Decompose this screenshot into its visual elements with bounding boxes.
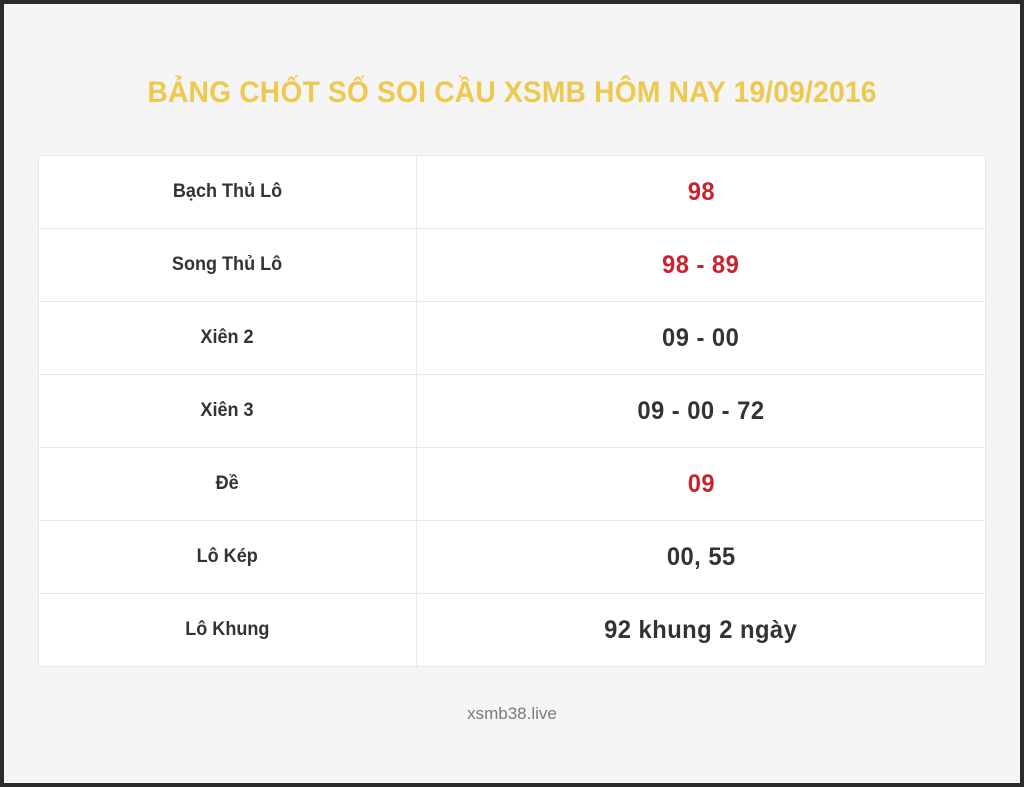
row-value: 09 - 00 - 72: [637, 397, 764, 426]
row-value: 09: [687, 470, 714, 499]
table-cell-label: Xiên 2: [39, 302, 417, 375]
table-row: Xiên 2 09 - 00: [39, 302, 986, 375]
row-label: Đề: [216, 473, 239, 495]
table-row: Đề 09: [39, 448, 986, 521]
row-value: 98: [687, 178, 714, 207]
row-value: 92 khung 2 ngày: [604, 616, 797, 645]
row-value: 98 - 89: [662, 251, 739, 280]
table-cell-value: 98: [416, 156, 985, 229]
table-row: Lô Khung 92 khung 2 ngày: [39, 594, 986, 667]
table-cell-value: 00, 55: [416, 521, 985, 594]
soicau-table-wrapper: Bạch Thủ Lô 98 Song Thủ Lô 98 - 89: [38, 155, 986, 667]
table-cell-label: Đề: [39, 448, 417, 521]
row-label: Bạch Thủ Lô: [173, 181, 282, 203]
soicau-table-body: Bạch Thủ Lô 98 Song Thủ Lô 98 - 89: [39, 156, 986, 667]
table-cell-value: 92 khung 2 ngày: [416, 594, 985, 667]
row-label: Song Thủ Lô: [172, 254, 282, 276]
table-row: Song Thủ Lô 98 - 89: [39, 229, 986, 302]
page-title: BẢNG CHỐT SỐ SOI CẦU XSMB HÔM NAY 19/09/…: [34, 76, 989, 110]
table-cell-label: Bạch Thủ Lô: [39, 156, 417, 229]
table-row: Xiên 3 09 - 00 - 72: [39, 375, 986, 448]
soicau-table: Bạch Thủ Lô 98 Song Thủ Lô 98 - 89: [38, 155, 986, 667]
table-row: Bạch Thủ Lô 98: [39, 156, 986, 229]
table-row: Lô Kép 00, 55: [39, 521, 986, 594]
table-cell-value: 09 - 00 - 72: [416, 375, 985, 448]
row-label: Lô Kép: [197, 546, 258, 568]
table-cell-label: Lô Khung: [39, 594, 417, 667]
row-value: 09 - 00: [662, 324, 739, 353]
table-cell-label: Xiên 3: [39, 375, 417, 448]
table-cell-label: Song Thủ Lô: [39, 229, 417, 302]
table-cell-value: 09: [416, 448, 985, 521]
row-label: Lô Khung: [185, 619, 269, 641]
page-frame: BẢNG CHỐT SỐ SOI CẦU XSMB HÔM NAY 19/09/…: [4, 4, 1020, 783]
table-cell-value: 98 - 89: [416, 229, 985, 302]
table-cell-label: Lô Kép: [39, 521, 417, 594]
table-cell-value: 09 - 00: [416, 302, 985, 375]
row-label: Xiên 3: [201, 400, 254, 422]
row-label: Xiên 2: [201, 327, 254, 349]
site-watermark: xsmb38.live: [4, 704, 1020, 724]
row-value: 00, 55: [666, 543, 735, 572]
